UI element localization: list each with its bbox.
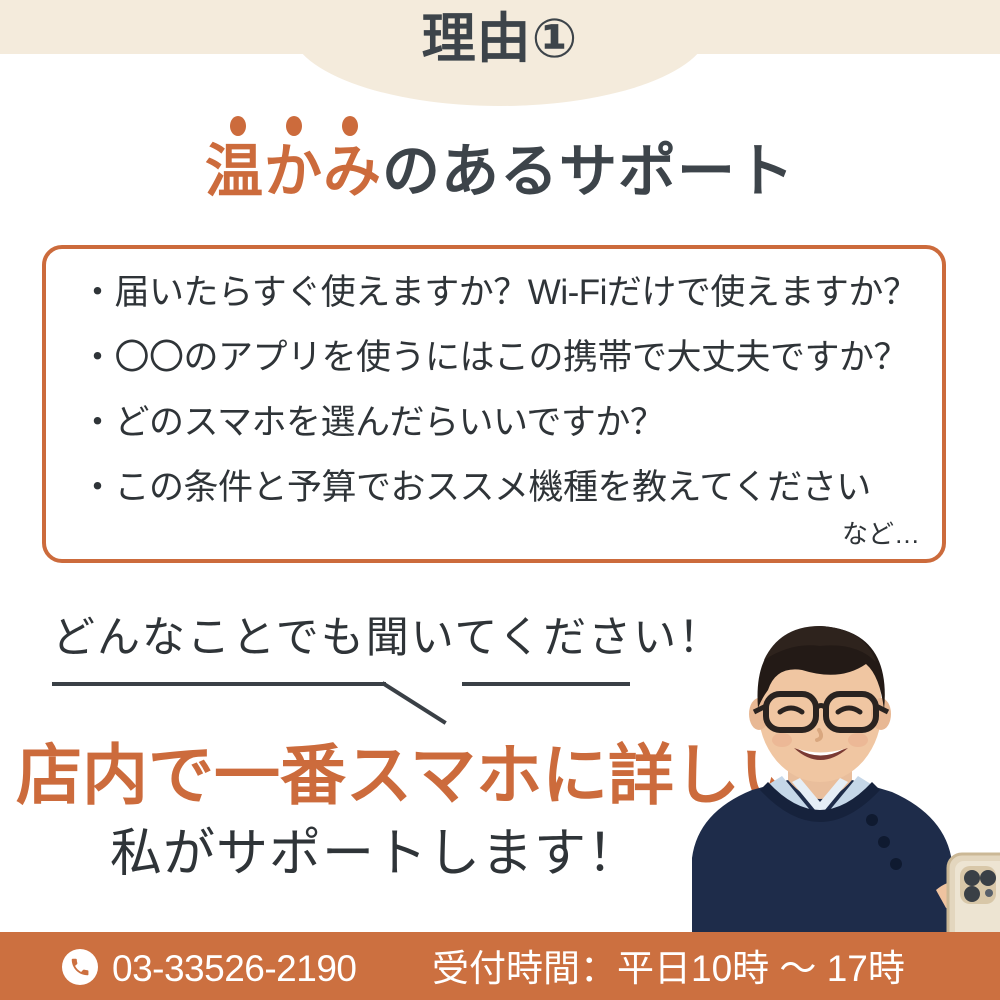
staff-photo-illustration <box>660 590 1000 935</box>
phone-handset-icon <box>69 956 91 978</box>
headline-secondary: 私がサポートします！ <box>110 828 640 880</box>
emphasis-dot-icon <box>286 116 302 136</box>
trailing-note: など… <box>842 514 920 551</box>
phone-icon-badge[interactable] <box>62 949 98 985</box>
list-item: ・この条件と予算でおススメ機種を教えてください <box>80 470 924 505</box>
list-item: ・届いたらすぐ使えますか？Wi-Fiだけで使えますか？ <box>80 275 924 310</box>
subtitle: 温かみのあるサポート <box>0 140 1000 204</box>
ask-anything-text: どんなことでも聞いてください！ <box>52 603 723 665</box>
emphasis-dots <box>228 116 398 138</box>
list-item: ・〇〇のアプリを使うにはこの携帯で大丈夫ですか？ <box>80 340 924 375</box>
list-item: ・どのスマホを選んだらいいですか？ <box>80 405 924 440</box>
subtitle-highlight: 温かみ <box>205 139 382 204</box>
business-hours: 受付時間：平日10時 〜 17時 <box>432 950 905 987</box>
staff-photo <box>660 590 1000 935</box>
subtitle-rest: のあるサポート <box>382 139 795 204</box>
speech-bubble-tail <box>40 660 660 730</box>
question-box: ・届いたらすぐ使えますか？Wi-Fiだけで使えますか？ ・〇〇のアプリを使うには… <box>42 245 946 563</box>
emphasis-dot-icon <box>342 116 358 136</box>
footer-bar: 03-33526-2190 受付時間：平日10時 〜 17時 <box>0 932 1000 1000</box>
question-list: ・届いたらすぐ使えますか？Wi-Fiだけで使えますか？ ・〇〇のアプリを使うには… <box>80 275 924 505</box>
phone-number[interactable]: 03-33526-2190 <box>112 950 357 987</box>
promo-graphic: 理由① 温かみのあるサポート ・届いたらすぐ使えますか？Wi-Fiだけで使えます… <box>0 0 1000 1000</box>
emphasis-dot-icon <box>230 116 246 136</box>
page-title: 理由① <box>0 12 1000 66</box>
